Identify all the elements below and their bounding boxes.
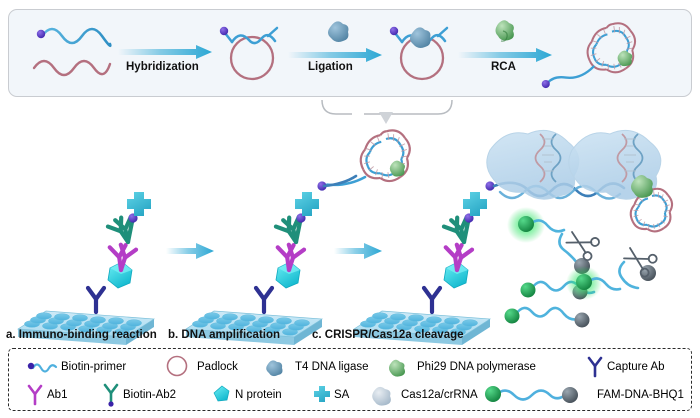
reporter-intact-2 xyxy=(505,308,590,328)
green-blob-icon xyxy=(382,354,416,379)
workflow-step-a xyxy=(18,192,214,345)
step-label-a: a. Immuno-binding reaction xyxy=(6,330,157,342)
hybridized-padlock-circle xyxy=(220,27,277,79)
legend-item-fam-dna-bhq1: FAM-DNA-BHQ1 xyxy=(484,381,684,408)
magenta-y-antibody-icon xyxy=(24,382,46,407)
legend-label-capture-ab: Capture Ab xyxy=(607,361,665,373)
capture-ab-icon xyxy=(256,288,272,312)
sa-icon xyxy=(463,192,487,216)
reporter-cleaved-2 xyxy=(566,266,620,300)
legend-item-biotin-primer: Biotin-primer xyxy=(26,353,126,380)
grey-blue-blob-icon xyxy=(366,382,400,407)
capture-ab-icon xyxy=(424,288,440,312)
legend-label-padlock: Padlock xyxy=(197,361,238,373)
biotin-dot-icon xyxy=(542,80,550,88)
legend-label-sa: SA xyxy=(334,389,349,401)
workflow-step-b xyxy=(186,176,382,345)
legend-label-fam-dna-bhq1: FAM-DNA-BHQ1 xyxy=(597,389,684,401)
reporter-cleaved-2-quencher-half xyxy=(619,262,656,288)
immunocomplex-a xyxy=(88,192,151,312)
cas12a-cleavage-scene xyxy=(487,130,672,327)
legend-label-t4-dna-ligase: T4 DNA ligase xyxy=(295,361,369,373)
fam-fluorophore-icon xyxy=(576,274,592,290)
blue-wave-with-dot-icon xyxy=(26,354,60,379)
rca-product-dna-flower-center xyxy=(327,130,410,185)
green-wave-grey-dot-icon xyxy=(484,382,596,407)
green-y-antibody-icon xyxy=(100,382,122,407)
figure-canvas: Hybridization Ligation RCA a. Immuno-bin… xyxy=(0,0,700,418)
arrow-step-b-to-c xyxy=(334,243,382,259)
arrow-rca xyxy=(458,20,552,62)
ligated-closed-circle xyxy=(390,27,447,79)
fam-fluorophore-icon xyxy=(505,309,520,324)
flow-down-bracket xyxy=(322,100,452,124)
reaction-scheme-graphics xyxy=(34,20,635,88)
reaction-label-hybridization: Hybridization xyxy=(126,62,199,74)
legend-item-biotin-ab2: Biotin-Ab2 xyxy=(100,381,176,408)
padlock-strand xyxy=(34,61,110,75)
biotin-dot-icon xyxy=(220,27,228,35)
t4-dna-ligase-icon xyxy=(328,21,348,42)
blue-y-antibody-icon xyxy=(584,354,606,379)
capture-ab-icon xyxy=(88,288,104,312)
step-label-b: b. DNA amplification xyxy=(168,330,280,342)
phi29-dna-polymerase-icon xyxy=(496,20,514,41)
biotin-dot-icon xyxy=(37,30,45,38)
legend-item-capture-ab: Capture Ab xyxy=(584,353,665,380)
legend-label-n-protein: N protein xyxy=(235,389,282,401)
legend-label-biotin-primer: Biotin-primer xyxy=(61,361,126,373)
arrow-step-a-to-b xyxy=(166,243,214,259)
reaction-label-ligation: Ligation xyxy=(308,62,353,74)
cyan-cross-icon xyxy=(311,382,333,407)
biotin-dot-icon xyxy=(390,27,398,35)
legend-row-2: Ab1 Biotin-Ab2 N protein xyxy=(0,381,684,408)
legend-item-phi29-dna-polymerase: Phi29 DNA polymerase xyxy=(382,353,536,380)
legend-label-cas12a-crrna: Cas12a/crRNA xyxy=(401,389,478,401)
cyan-polygon-icon xyxy=(210,382,234,407)
legend-item-n-protein: N protein xyxy=(210,381,282,408)
legend-item-ab1: Ab1 xyxy=(24,381,67,408)
sa-icon xyxy=(127,192,151,216)
biotin-primer-strand xyxy=(37,29,111,46)
t4-dna-ligase-icon xyxy=(410,27,430,48)
legend-item-sa: SA xyxy=(311,381,349,408)
legend-label-phi29-dna-polymerase: Phi29 DNA polymerase xyxy=(417,361,536,373)
legend-item-t4-dna-ligase: T4 DNA ligase xyxy=(260,353,369,380)
arrow-hybridization xyxy=(118,45,212,59)
legend-label-ab1: Ab1 xyxy=(47,389,67,401)
reporter-cleaved-1 xyxy=(507,207,564,243)
rca-product-dna-flower-top xyxy=(542,23,635,88)
sa-icon xyxy=(295,192,319,216)
legend-item-padlock: Padlock xyxy=(162,353,238,380)
cas12a-crrna-complex-1 xyxy=(487,130,579,199)
fam-fluorophore-icon xyxy=(521,283,536,298)
arrow-ligation xyxy=(288,21,382,62)
legend-row-1: Biotin-primer Padlock T4 DNA ligase xyxy=(0,353,684,380)
blue-blob-icon xyxy=(260,354,294,379)
legend-item-cas12a-crrna: Cas12a/crRNA xyxy=(366,381,478,408)
workflow-step-c xyxy=(354,181,495,345)
immunocomplex-c xyxy=(424,181,495,312)
fam-fluorophore-icon xyxy=(518,216,534,232)
bhq1-quencher-icon xyxy=(575,313,590,328)
rose-circle-icon xyxy=(162,354,196,379)
legend-label-biotin-ab2: Biotin-Ab2 xyxy=(123,389,176,401)
immunocomplex-b xyxy=(256,176,356,312)
scissors-icon-1 xyxy=(564,227,601,262)
step-label-c: c. CRISPR/Cas12a cleavage xyxy=(312,330,464,342)
reaction-label-rca: RCA xyxy=(491,62,516,74)
